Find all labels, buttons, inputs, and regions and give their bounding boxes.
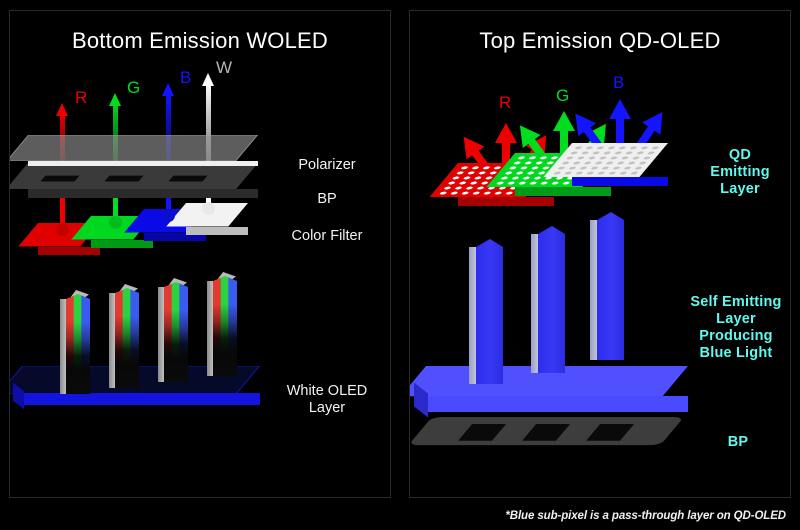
pillar-face	[66, 294, 90, 394]
blue-pillar	[469, 239, 503, 384]
qd-dot-pattern	[550, 145, 661, 174]
arrow-letter-r: R	[499, 94, 511, 111]
qd-plate-front-face	[572, 177, 668, 186]
blue-pillar	[531, 226, 565, 373]
bp-plate-right	[432, 417, 684, 481]
pillar-edge	[469, 247, 477, 384]
bp-slot	[586, 424, 634, 441]
label-color-filter: Color Filter	[272, 228, 382, 245]
polarizer-front-face	[28, 161, 258, 166]
bp-slot	[458, 424, 506, 441]
polarizer-plate	[28, 135, 258, 197]
arrow-letter-g: G	[127, 79, 140, 96]
panel-top-emission-qd-oled: Top Emission QD-OLED R G B	[409, 10, 791, 498]
white-oled-pillar	[60, 294, 90, 394]
label-white-oled-layer: White OLED Layer	[268, 383, 386, 417]
pillar-edge	[531, 234, 539, 373]
arrow-letter-r: R	[75, 89, 87, 106]
connector-knob-green	[109, 216, 122, 229]
bp-plate-top-face	[409, 417, 684, 445]
pillar-edge	[158, 287, 165, 382]
base-plate-front-face	[22, 393, 260, 405]
polarizer-top-face	[9, 135, 258, 161]
label-bp-left: BP	[272, 191, 382, 208]
pillar-face	[597, 212, 624, 360]
arrow-letter-b: B	[613, 74, 624, 91]
arrow-letter-w: W	[216, 59, 232, 76]
panel-bottom-emission-woled: Bottom Emission WOLED R G B W	[9, 10, 391, 498]
right-panel-title: Top Emission QD-OLED	[410, 28, 790, 54]
white-oled-pillar	[109, 288, 139, 388]
label-bp-right: BP	[708, 434, 768, 451]
label-qd-emitting-layer: QD Emitting Layer	[692, 147, 788, 198]
white-oled-pillar	[158, 282, 188, 382]
arrow-letter-b: B	[180, 69, 191, 86]
pillar-edge	[60, 299, 67, 394]
connector-knob-blue	[162, 209, 175, 222]
connector-knob-red	[56, 223, 69, 236]
diagram-root: Bottom Emission WOLED R G B W	[0, 0, 800, 530]
pillar-edge	[590, 220, 598, 360]
pillar-face	[538, 226, 565, 373]
white-oled-pillar	[207, 276, 237, 376]
pillar-face	[213, 276, 237, 376]
qd-plate-blue	[572, 143, 668, 217]
label-self-emitting-layer: Self Emitting Layer Producing Blue Light	[682, 294, 790, 362]
label-polarizer: Polarizer	[272, 157, 382, 174]
pillar-face	[164, 282, 188, 382]
base-plate-front-face	[426, 396, 688, 412]
left-panel-title: Bottom Emission WOLED	[10, 28, 390, 54]
pillar-edge	[109, 293, 116, 388]
pillar-face	[476, 239, 503, 384]
footnote: *Blue sub-pixel is a pass-through layer …	[505, 510, 786, 522]
color-filter-front-face	[186, 227, 248, 235]
bp-slot	[522, 424, 570, 441]
connector-knob-white	[202, 202, 215, 215]
color-filter-white	[186, 203, 248, 259]
blue-pillar	[590, 212, 624, 360]
pillar-face	[115, 288, 139, 388]
arrow-letter-g: G	[556, 87, 569, 104]
pillar-edge	[207, 281, 214, 376]
